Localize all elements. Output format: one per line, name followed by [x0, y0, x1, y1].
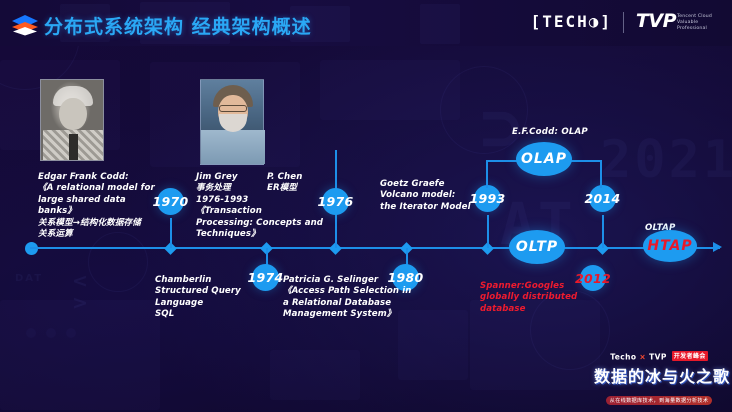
brand-subtitle: 从在线数据库技术，到海量数据分析技术 — [606, 396, 713, 405]
brand-techo: Techo — [610, 352, 636, 361]
techo-logo: [TECH◑] — [531, 12, 612, 31]
timeline-axis — [30, 247, 720, 249]
slide-header: 分布式系统架构 经典架构概述 [TECH◑] TVP Tencent Cloud… — [0, 0, 732, 46]
node-olap[interactable]: OLAP — [516, 142, 572, 176]
timeline-stem-1970 — [170, 218, 172, 248]
logo-divider — [623, 12, 624, 33]
edgar-frank-codd-photo — [40, 79, 104, 161]
tvp-logo: TVP — [636, 10, 676, 32]
timeline-stem-2014 — [602, 215, 604, 248]
timeline-arrow-icon — [713, 242, 722, 252]
node-htap[interactable]: HTAP — [643, 230, 697, 262]
page-title: 分布式系统架构 经典架构概述 — [44, 12, 312, 39]
brand-separator: × — [639, 352, 646, 361]
node-oltp[interactable]: OLTP — [509, 230, 565, 264]
brand-title: 数据的冰与火之歌 — [594, 363, 724, 387]
timeline-stem-1993 — [487, 215, 489, 248]
slide-canvas: 2021 AT ⊃ < > DAT 分布式系统架构 经典架构概述 [TECH◑]… — [0, 0, 732, 412]
stacked-layers-icon — [10, 14, 40, 36]
entry-spanner: Spanner:Googles globally distributed dat… — [480, 281, 590, 315]
brand-badge: 开发者峰会 — [672, 351, 708, 361]
jim-gray-photo — [200, 79, 264, 165]
label-codd-olap: E.F.Codd: OLAP — [512, 127, 588, 138]
entry-p-chen: P. Chen ER模型 — [267, 172, 337, 195]
connector-2014-up — [600, 160, 602, 188]
entry-goetz-graefe: Goetz Graefe Volcano model: the Iterator… — [380, 179, 500, 213]
year-circle-1974[interactable]: 1974 — [252, 264, 279, 291]
brand-line-1: Techo × TVP 开发者峰会 — [594, 351, 724, 362]
year-circle-2014[interactable]: 2014 — [589, 185, 616, 212]
brand-tvp: TVP — [649, 352, 667, 361]
entry-codd: Edgar Frank Codd: 《A relational model fo… — [38, 172, 168, 240]
connector-1993-olap — [486, 160, 518, 162]
connector-olap-2014 — [570, 160, 602, 162]
event-branding: Techo × TVP 开发者峰会 数据的冰与火之歌 从在线数据库技术，到海量数… — [594, 351, 724, 407]
tvp-subtitle: Tencent Cloud Valuable Professional — [677, 14, 727, 33]
entry-selinger: Patricia G. Selinger 《Access Path Select… — [283, 275, 428, 321]
connector-1993-up — [486, 160, 488, 188]
entry-chamberlin: Chamberlin Structured Query Language SQL — [155, 275, 255, 321]
